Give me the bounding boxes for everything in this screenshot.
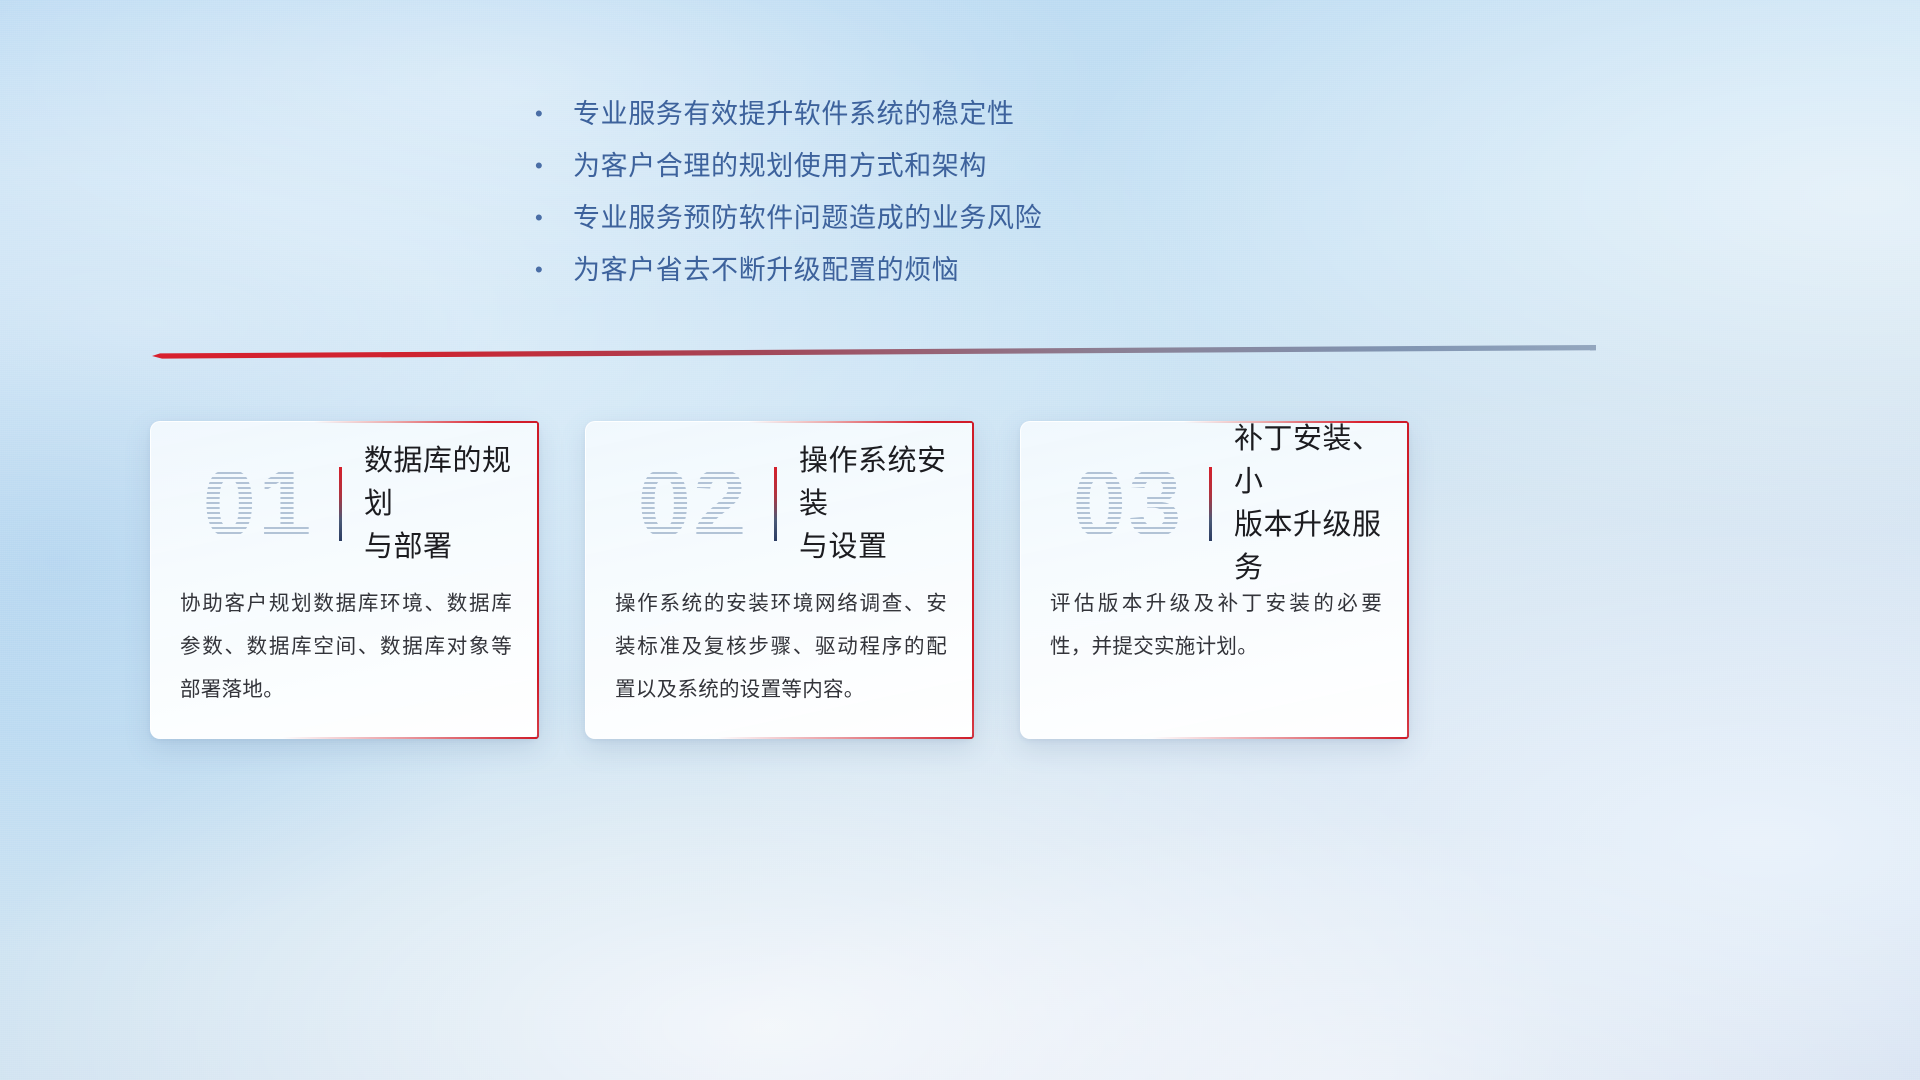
card-accent-bottom xyxy=(586,737,973,739)
bullet-item-label: 为客户合理的规划使用方式和架构 xyxy=(573,140,987,192)
bullet-marker-icon: • xyxy=(535,140,573,192)
card-title-divider-bar xyxy=(774,467,777,541)
card-accent-bottom xyxy=(151,737,538,739)
card-title-divider-bar xyxy=(339,467,342,541)
bullet-marker-icon: • xyxy=(535,244,573,296)
card-title: 操作系统安装 与设置 xyxy=(799,440,973,569)
service-card-03[interactable]: 03 补丁安装、小 版本升级服务 评估版本升级及补丁安装的必要性，并提交实施计划… xyxy=(1020,421,1409,739)
service-card-list: 01 数据库的规划 与部署 协助客户规划数据库环境、数据库参数、数据库空间、数据… xyxy=(150,421,1610,741)
card-number-watermark: 03 xyxy=(1047,444,1209,564)
section-divider-line-icon xyxy=(152,345,1596,367)
card-header: 02 操作系统安装 与设置 xyxy=(586,438,973,570)
card-accent-top xyxy=(151,421,538,423)
slide-stage: • 专业服务有效提升软件系统的稳定性 • 为客户合理的规划使用方式和架构 • 专… xyxy=(0,0,1920,1080)
bullet-item-label: 专业服务预防软件问题造成的业务风险 xyxy=(573,192,1042,244)
bullet-marker-icon: • xyxy=(535,88,573,140)
card-title: 数据库的规划 与部署 xyxy=(364,440,538,569)
bullet-item: • 专业服务有效提升软件系统的稳定性 xyxy=(535,88,1275,140)
bullet-marker-icon: • xyxy=(535,192,573,244)
card-title: 补丁安装、小 版本升级服务 xyxy=(1234,418,1408,590)
card-number-watermark: 02 xyxy=(612,444,774,564)
service-card-01[interactable]: 01 数据库的规划 与部署 协助客户规划数据库环境、数据库参数、数据库空间、数据… xyxy=(150,421,539,739)
card-title-divider-bar xyxy=(1209,467,1212,541)
card-accent-top xyxy=(586,421,973,423)
service-card-02[interactable]: 02 操作系统安装 与设置 操作系统的安装环境网络调查、安装标准及复核步骤、驱动… xyxy=(585,421,974,739)
card-header: 01 数据库的规划 与部署 xyxy=(151,438,538,570)
card-accent-bottom xyxy=(1021,737,1408,739)
card-header: 03 补丁安装、小 版本升级服务 xyxy=(1021,438,1408,570)
bullet-item: • 为客户省去不断升级配置的烦恼 xyxy=(535,244,1275,296)
card-description: 评估版本升级及补丁安装的必要性，并提交实施计划。 xyxy=(1050,582,1382,668)
section-divider xyxy=(152,345,1596,367)
benefits-bullet-list: • 专业服务有效提升软件系统的稳定性 • 为客户合理的规划使用方式和架构 • 专… xyxy=(535,88,1275,296)
card-description: 协助客户规划数据库环境、数据库参数、数据库空间、数据库对象等部署落地。 xyxy=(180,582,512,711)
bullet-item: • 专业服务预防软件问题造成的业务风险 xyxy=(535,192,1275,244)
bullet-item-label: 为客户省去不断升级配置的烦恼 xyxy=(573,244,959,296)
card-number-watermark: 01 xyxy=(177,444,339,564)
bullet-item-label: 专业服务有效提升软件系统的稳定性 xyxy=(573,88,1015,140)
card-description: 操作系统的安装环境网络调查、安装标准及复核步骤、驱动程序的配置以及系统的设置等内… xyxy=(615,582,947,711)
bullet-item: • 为客户合理的规划使用方式和架构 xyxy=(535,140,1275,192)
